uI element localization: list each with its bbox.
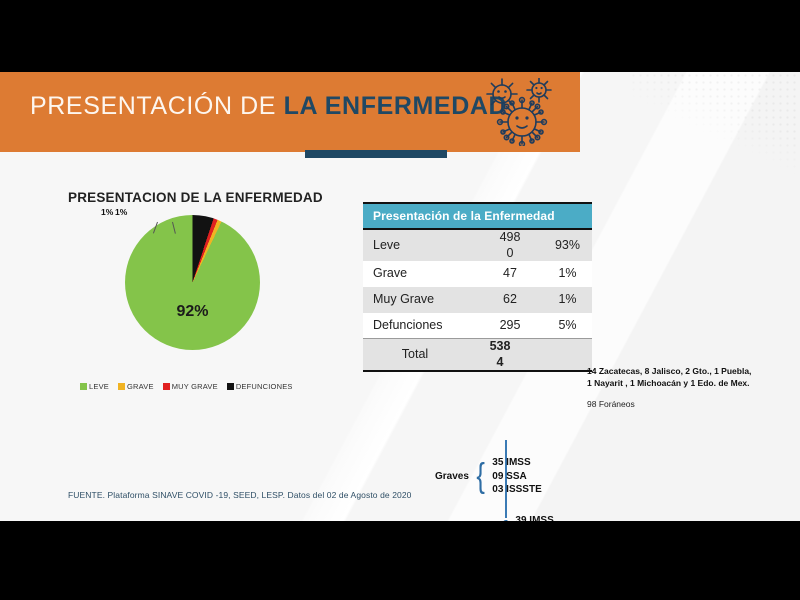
table-cell-value: 498 0: [477, 230, 543, 261]
slide-canvas: PRESENTACIÓN DE LA ENFERMEDAD: [0, 72, 800, 521]
pie-chart-slices: [125, 215, 260, 350]
legend-label-defunciones: DEFUNCIONES: [236, 382, 293, 391]
table-cell-value-part1: 498: [477, 230, 543, 246]
page-title-bold: LA ENFERMEDAD: [284, 92, 508, 120]
pie-slice-label-grave: 1%: [101, 207, 113, 217]
legend-label-muy-grave: MUY GRAVE: [172, 382, 218, 391]
legend-label-leve: LEVE: [89, 382, 109, 391]
title-underline: [305, 150, 447, 158]
page-title: PRESENTACIÓN DE LA ENFERMEDAD: [30, 92, 507, 121]
muy-graves-item: 39 IMSS: [515, 515, 564, 521]
graves-item: 35 IMSS: [492, 457, 541, 470]
graves-label: Graves: [435, 471, 469, 482]
table-cell-label: Muy Grave: [363, 287, 477, 313]
table-row-total: Total 538 4: [363, 338, 592, 370]
chart-title: PRESENTACION DE LA ENFERMEDAD: [68, 190, 378, 205]
legend-item-defunciones: DEFUNCIONES: [227, 382, 293, 391]
legend-swatch-grave: [118, 383, 125, 390]
table-row: Muy Grave 62 1%: [363, 287, 592, 313]
table-row: Grave 47 1%: [363, 261, 592, 287]
pie-slice-label-muy-grave: 1%: [115, 207, 127, 217]
pie-slice-label-leve: 92%: [125, 303, 260, 321]
table-cell-label: Total: [363, 342, 467, 368]
legend-swatch-muy-grave: [163, 383, 170, 390]
state-distribution-note: 14 Zacatecas, 8 Jalisco, 2 Gto., 1 Puebl…: [587, 365, 792, 409]
table-cell-percent: 5%: [543, 318, 592, 334]
note-states: 14 Zacatecas, 8 Jalisco, 2 Gto., 1 Puebl…: [587, 365, 792, 390]
legend-swatch-leve: [80, 383, 87, 390]
graves-breakdown: Graves { 35 IMSS 09 SSA 03 ISSSTE: [435, 457, 542, 497]
legend-item-muy-grave: MUY GRAVE: [163, 382, 218, 391]
presentation-table: Presentación de la Enfermedad Leve 498 0…: [363, 202, 592, 372]
table-cell-value: 295: [477, 318, 543, 334]
page-title-light: PRESENTACIÓN DE: [30, 92, 284, 120]
pie-chart: 92%: [125, 215, 260, 350]
muy-graves-breakdown: Muy graves { 39 IMSS 20 SSA 03 ISSSTE: [437, 515, 565, 521]
table-cell-label: Defunciones: [363, 313, 477, 339]
table-row: Defunciones 295 5%: [363, 313, 592, 339]
table-header: Presentación de la Enfermedad: [363, 204, 592, 230]
table-cell-percent: 93%: [543, 238, 592, 254]
table-cell-label: Leve: [363, 233, 477, 259]
legend-item-grave: GRAVE: [118, 382, 154, 391]
table-total-part2: 4: [467, 355, 533, 371]
pie-legend: LEVE GRAVE MUY GRAVE DEFUNCIONES: [80, 382, 320, 391]
letterbox-bottom: [0, 521, 800, 600]
legend-label-grave: GRAVE: [127, 382, 154, 391]
legend-swatch-defunciones: [227, 383, 234, 390]
coronavirus-icon: [482, 78, 572, 146]
letterbox-top: [0, 0, 800, 72]
table-cell-value: 47: [477, 266, 543, 282]
graves-item: 03 ISSSTE: [492, 484, 541, 497]
table-cell-value: 62: [477, 292, 543, 308]
brace-icon: {: [476, 463, 485, 490]
legend-item-leve: LEVE: [80, 382, 109, 391]
table-cell-percent: 1%: [543, 292, 592, 308]
table-cell-percent: 1%: [543, 266, 592, 282]
note-states-line1: 14 Zacatecas, 8 Jalisco, 2 Gto., 1 Puebl…: [587, 365, 792, 377]
note-states-line2: 1 Nayarit , 1 Michoacán y 1 Edo. de Mex.: [587, 377, 792, 389]
note-foraneos: 98 Foráneos: [587, 399, 792, 409]
graves-item: 09 SSA: [492, 471, 541, 484]
slide-dot-pattern: [630, 72, 800, 222]
table-cell-value: 538 4: [467, 339, 533, 370]
source-footnote: FUENTE. Plataforma SINAVE COVID -19, SEE…: [68, 490, 412, 500]
table-row: Leve 498 0 93%: [363, 230, 592, 261]
screenshot-stage: PRESENTACIÓN DE LA ENFERMEDAD: [0, 0, 800, 600]
table-cell-label: Grave: [363, 261, 477, 287]
table-cell-value-part2: 0: [477, 246, 543, 262]
table-total-part1: 538: [467, 339, 533, 355]
